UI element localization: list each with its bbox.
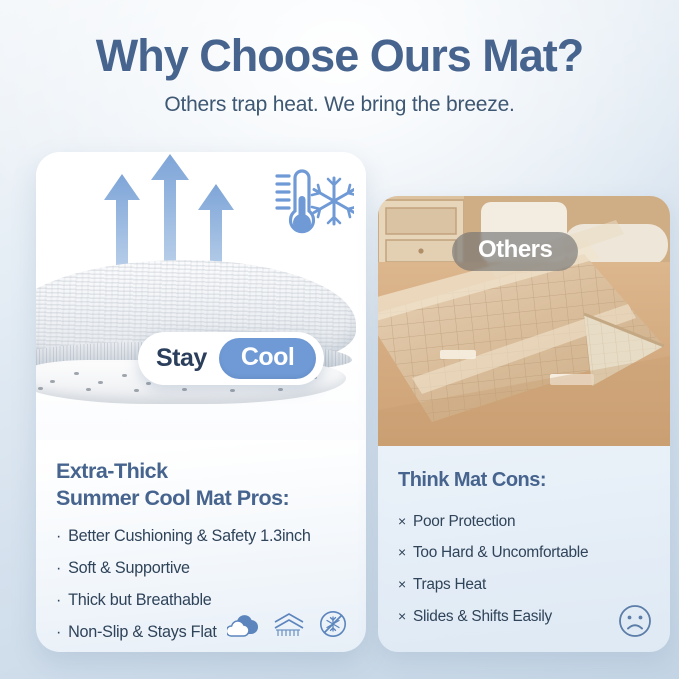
pros-item-label: Soft & Supportive — [68, 553, 190, 585]
snowflake-icon — [312, 178, 354, 224]
badge-prefix-label: Stay — [156, 344, 207, 373]
cross-marker: × — [398, 602, 406, 631]
cross-marker: × — [398, 570, 406, 599]
page-title: Why Choose Ours Mat? — [0, 32, 679, 79]
badge-highlight-label: Cool — [219, 338, 317, 379]
thermometer-snowflake-icon — [262, 166, 354, 244]
bullet-marker: · — [56, 553, 61, 584]
ordinary-mat-on-bed-photo: Others — [378, 196, 670, 446]
pros-heading-line-1: Extra-Thick — [56, 459, 168, 483]
feature-icon-row — [227, 610, 347, 638]
pros-card: Stay Cool Extra-Thick Summer Cool Mat Pr… — [36, 152, 366, 652]
list-item: × Traps Heat — [398, 569, 652, 601]
bullet-marker: · — [56, 521, 61, 552]
cloud-cool-icon — [227, 612, 259, 638]
pros-heading-line-2: Summer Cool Mat Pros: — [56, 486, 289, 510]
cons-card: Others Think Mat Cons: × Poor Protection… — [378, 196, 670, 652]
cons-heading: Think Mat Cons: — [398, 468, 652, 493]
cross-marker: × — [398, 538, 406, 567]
cons-item-label: Poor Protection — [413, 506, 515, 538]
cross-marker: × — [398, 507, 406, 536]
pros-heading: Extra-Thick Summer Cool Mat Pros: — [56, 458, 346, 511]
cons-item-label: Slides & Shifts Easily — [413, 601, 552, 633]
list-item: × Slides & Shifts Easily — [398, 601, 652, 633]
bullet-marker: · — [56, 617, 61, 648]
breathable-layers-icon — [272, 612, 306, 638]
cons-item-label: Too Hard & Uncomfortable — [413, 537, 588, 569]
pros-item-label: Thick but Breathable — [68, 585, 211, 617]
pros-item-label: Better Cushioning & Safety 1.3inch — [68, 521, 311, 553]
cons-list: × Poor Protection × Too Hard & Uncomfort… — [398, 506, 652, 632]
stay-cool-badge[interactable]: Stay Cool — [138, 332, 324, 385]
page-header: Why Choose Ours Mat? Others trap heat. W… — [0, 0, 679, 117]
cons-item-label: Traps Heat — [413, 569, 486, 601]
sad-face-icon — [618, 604, 652, 638]
bullet-marker: · — [56, 585, 61, 616]
list-item: × Too Hard & Uncomfortable — [398, 537, 652, 569]
pros-item-label: Non-Slip & Stays Flat — [68, 617, 217, 649]
others-badge[interactable]: Others — [452, 232, 578, 271]
page-subtitle: Others trap heat. We bring the breeze. — [0, 93, 679, 117]
anti-mite-icon — [319, 610, 347, 638]
list-item: · Better Cushioning & Safety 1.3inch — [56, 521, 346, 553]
list-item: × Poor Protection — [398, 506, 652, 538]
list-item: · Soft & Supportive — [56, 553, 346, 585]
cooling-mat-photo — [36, 152, 366, 440]
